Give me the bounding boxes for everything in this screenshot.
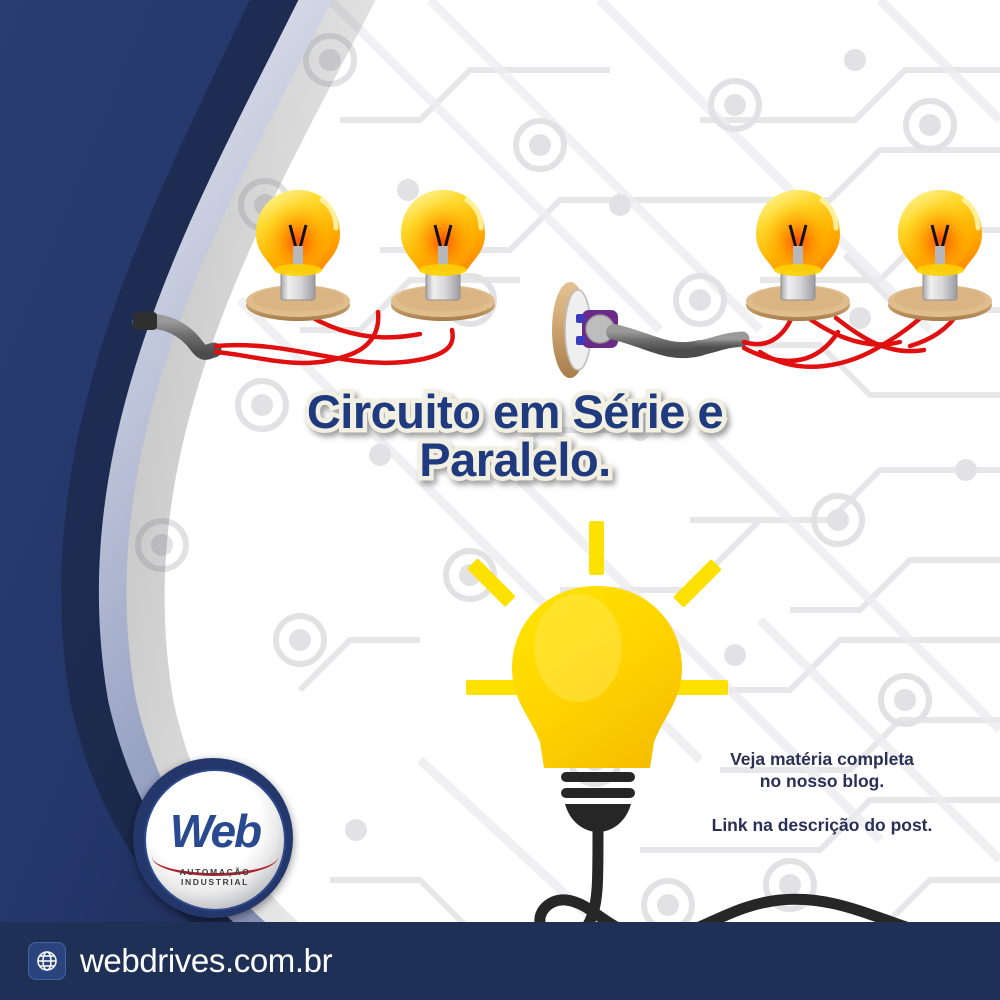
website-link[interactable]: webdrives.com.br bbox=[28, 938, 332, 984]
promo-text-block: Veja matéria completa no nosso blog. Lin… bbox=[672, 748, 972, 836]
brand-logo[interactable]: Web AUTOMAÇÃO INDUSTRIAL bbox=[133, 758, 293, 918]
footer-bar: webdrives.com.br bbox=[0, 922, 1000, 1000]
globe-icon bbox=[28, 942, 66, 980]
promo-line-3: Link na descrição do post. bbox=[672, 815, 972, 836]
poster-canvas: Circuito em Série e Paralelo. Veja matér… bbox=[0, 0, 1000, 1000]
promo-line-1: Veja matéria completa bbox=[730, 749, 914, 769]
promo-line-2: no nosso blog. bbox=[760, 771, 884, 791]
logo-wordmark: Web bbox=[146, 804, 284, 858]
logo-disc: Web AUTOMAÇÃO INDUSTRIAL bbox=[144, 769, 286, 911]
site-url-text: webdrives.com.br bbox=[80, 942, 332, 980]
logo-tagline: AUTOMAÇÃO INDUSTRIAL bbox=[146, 867, 284, 887]
